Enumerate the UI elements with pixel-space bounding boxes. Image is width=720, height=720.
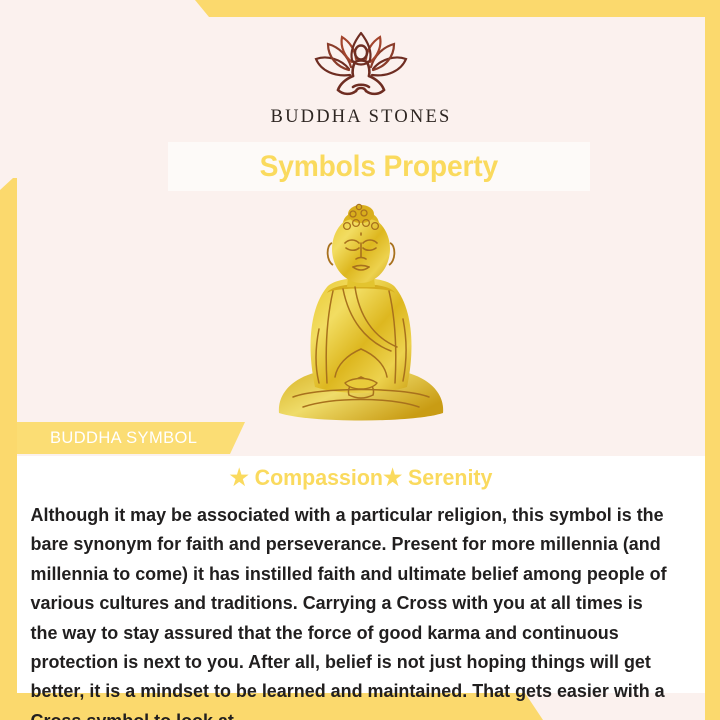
title-band: Symbols Property xyxy=(168,142,590,191)
poster-canvas: BUDDHA STONES Symbols Property xyxy=(0,0,720,720)
hero-stage: BUDDHA STONES Symbols Property xyxy=(17,17,705,457)
decor-right-bar xyxy=(705,0,720,720)
decor-left-bar xyxy=(0,178,17,720)
lotus-meditation-icon xyxy=(305,29,417,101)
content-panel: ★ Compassion★ Serenity Although it may b… xyxy=(17,456,705,693)
hero-image xyxy=(17,199,705,431)
golden-seated-buddha-illustration xyxy=(263,199,459,431)
category-ribbon: BUDDHA SYMBOL xyxy=(17,422,245,454)
brand-logo: BUDDHA STONES xyxy=(17,29,705,128)
content-body: Although it may be associated with a par… xyxy=(17,491,681,720)
category-ribbon-label: BUDDHA SYMBOL xyxy=(17,429,197,448)
page-title: Symbols Property xyxy=(260,150,498,184)
decor-top-bar xyxy=(0,0,720,17)
brand-name: BUDDHA STONES xyxy=(271,107,452,128)
content-headline: ★ Compassion★ Serenity xyxy=(34,456,688,491)
